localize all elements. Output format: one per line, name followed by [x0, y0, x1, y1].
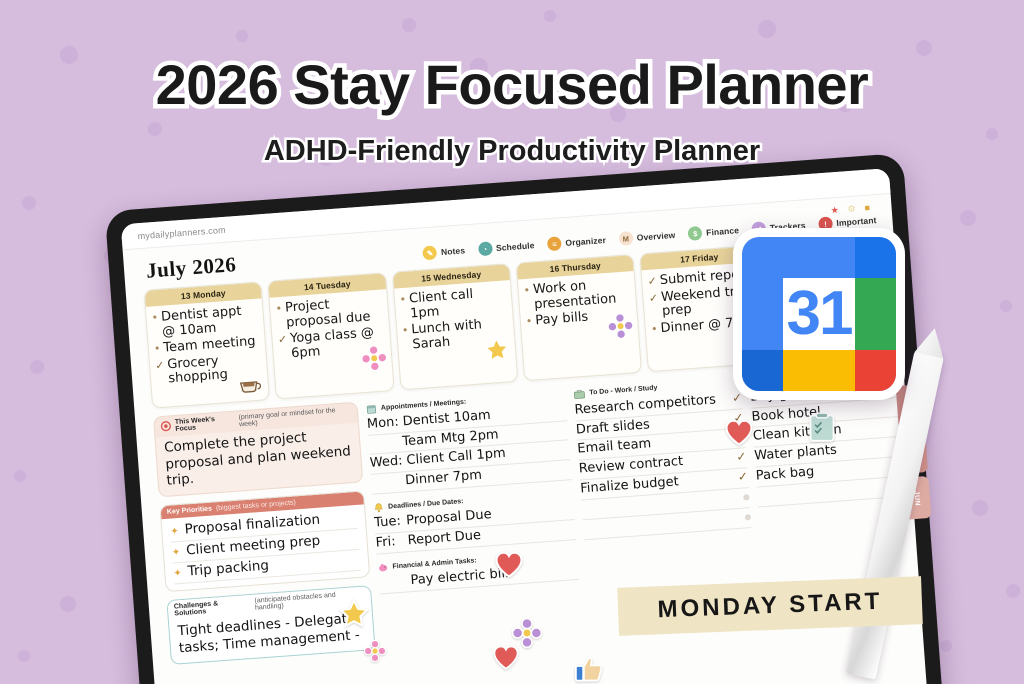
header-block: 2026 Stay Focused Planner ADHD-Friendly … [0, 52, 1024, 168]
day-task-text: Pay bills [535, 311, 589, 329]
task-bullet-icon: • [275, 302, 284, 331]
lock-icon[interactable]: ■ [864, 203, 874, 213]
diamond-icon: ✦ [173, 568, 182, 580]
task-bullet-icon: • [401, 324, 410, 353]
toolbar-item-notes[interactable]: ✎Notes [423, 243, 466, 260]
clock-icon: ◔ [478, 241, 493, 256]
todo-check-icon[interactable]: ✓ [737, 468, 748, 486]
day-task-text: Grocery shopping [167, 351, 263, 387]
line-indent [372, 485, 402, 487]
task-check-icon: ✓ [648, 291, 659, 321]
day-card-tasks[interactable]: •Project proposal due✓Yoga class @ 6pm [270, 289, 391, 369]
day-card[interactable]: 14 Tuesday•Project proposal due✓Yoga cla… [268, 272, 395, 399]
toolbar-item-label: Notes [441, 245, 466, 257]
day-task-text: Lunch with Sarah [411, 316, 510, 352]
task-bullet-icon: • [523, 284, 532, 313]
task-bullet-icon: • [151, 311, 160, 340]
day-task-text: Dinner @ 7 [660, 317, 734, 337]
line-label: Mon: [366, 413, 399, 434]
day-card[interactable]: 16 Thursday•Work on presentation•Pay bil… [516, 254, 643, 381]
todo-text [757, 487, 763, 506]
focus-text: Complete the project proposal and plan w… [164, 426, 354, 490]
yellow-star-sticker-2 [338, 598, 370, 634]
toolbar-item-label: Organizer [565, 235, 606, 248]
line-text: Report Due [407, 527, 482, 551]
monday-start-label: MONDAY START [657, 588, 883, 625]
priority-text: Trip packing [187, 558, 269, 581]
day-task[interactable]: ✓Yoga class @ 6pm [277, 326, 385, 363]
todo-text [581, 500, 587, 519]
calendar-day-number: 31 [783, 278, 855, 350]
day-task-text: Client call 1pm [409, 285, 508, 321]
todo-empty-marker[interactable] [745, 514, 751, 520]
day-card-tasks[interactable]: •Client call 1pm•Lunch with Sarah [394, 280, 515, 360]
pink-flower-sticker-2 [364, 640, 386, 667]
dollar-icon: $ [688, 226, 703, 241]
month-title: July 2026 [145, 252, 237, 284]
task-check-icon: ✓ [155, 358, 166, 388]
priorities-list[interactable]: ✦Proposal finalization✦Client meeting pr… [161, 505, 369, 591]
todo-empty-marker[interactable] [743, 494, 749, 500]
star-icon[interactable]: ★ [830, 206, 840, 216]
line-label: Fri: [375, 533, 404, 554]
toolbar-item-label: Finance [706, 225, 739, 237]
toolbar-item-label: Important [836, 215, 877, 228]
line-indent [369, 445, 399, 447]
purple-flower-sticker-2 [512, 618, 542, 653]
google-calendar-glyph: 31 [742, 237, 896, 391]
line-label [379, 584, 407, 586]
red-heart-sticker [724, 418, 754, 451]
key-priorities-panel: Key Priorities (biggest tasks or project… [159, 491, 370, 592]
task-check-icon: ✓ [647, 274, 657, 289]
page-subtitle: ADHD-Friendly Productivity Planner [264, 135, 760, 168]
toolbar-item-finance[interactable]: $Finance [688, 223, 740, 241]
toolbar-item-overview[interactable]: MOverview [618, 228, 675, 246]
day-task[interactable]: •Lunch with Sarah [401, 316, 509, 353]
appointments-list[interactable]: Mon:Dentist 10amTeam Mtg 2pmWed:Client C… [366, 401, 571, 495]
thumbs-up-sticker [574, 654, 606, 684]
focus-panel-title: This Week's Focus [175, 414, 236, 432]
task-bullet-icon: • [153, 342, 161, 357]
day-card-tasks[interactable]: •Dentist appt @ 10am•Team meeting✓Grocer… [146, 298, 268, 394]
google-calendar-icon[interactable]: 31 [733, 228, 905, 400]
briefcase-icon [573, 388, 586, 401]
day-card[interactable]: 13 Monday•Dentist appt @ 10am•Team meeti… [144, 281, 271, 408]
calendar-icon [366, 403, 378, 415]
day-task[interactable]: ✓Grocery shopping [155, 351, 263, 388]
overview-icon: M [618, 231, 633, 246]
todo-work-title: To Do - Work / Study [589, 385, 658, 397]
challenges-panel-title: Challenges & Solutions [174, 598, 252, 618]
toolbar-item-organizer[interactable]: ≡Organizer [547, 233, 606, 251]
task-bullet-icon: • [651, 322, 659, 337]
diamond-icon: ✦ [172, 547, 181, 559]
clipboard-checklist-sticker [808, 412, 836, 447]
priorities-panel-title: Key Priorities [167, 506, 213, 516]
piggy-bank-icon [377, 562, 389, 574]
target-icon [160, 421, 171, 433]
red-heart-sticker-2 [494, 550, 524, 583]
toolbar-item-label: Overview [636, 230, 675, 243]
page-title: 2026 Stay Focused Planner [156, 52, 869, 117]
task-bullet-icon: • [399, 293, 408, 322]
todo-check-icon[interactable]: ✓ [736, 449, 747, 467]
todo-text [583, 520, 589, 539]
this-weeks-focus-panel: This Week's Focus (primary goal or minds… [153, 401, 363, 497]
toolbar-item-label: Schedule [496, 240, 535, 253]
diamond-icon: ✦ [170, 526, 179, 538]
day-card-tasks[interactable]: •Work on presentation•Pay bills [518, 271, 638, 336]
column-middle: Appointments / Meetings: Mon:Dentist 10a… [365, 386, 583, 657]
todo-work-list[interactable]: Research competitors✓Draft slides✓Email … [574, 389, 752, 540]
line-label: Wed: [369, 453, 403, 474]
settings-icon[interactable]: ⚙ [847, 205, 857, 215]
task-check-icon: ✓ [277, 333, 288, 363]
toolbar-item-schedule[interactable]: ◔Schedule [478, 238, 535, 256]
pencil-icon: ✎ [423, 245, 438, 260]
url-text: mydailyplanners.com [137, 224, 226, 240]
bell-icon [373, 502, 385, 514]
day-task-text: Work on presentation [533, 276, 632, 312]
day-task-text: Yoga class @ 6pm [290, 326, 386, 362]
day-card[interactable]: 15 Wednesday•Client call 1pm•Lunch with … [392, 263, 519, 390]
list-icon: ≡ [547, 236, 562, 251]
line-label: Tue: [374, 513, 403, 534]
task-bullet-icon: • [525, 315, 533, 330]
